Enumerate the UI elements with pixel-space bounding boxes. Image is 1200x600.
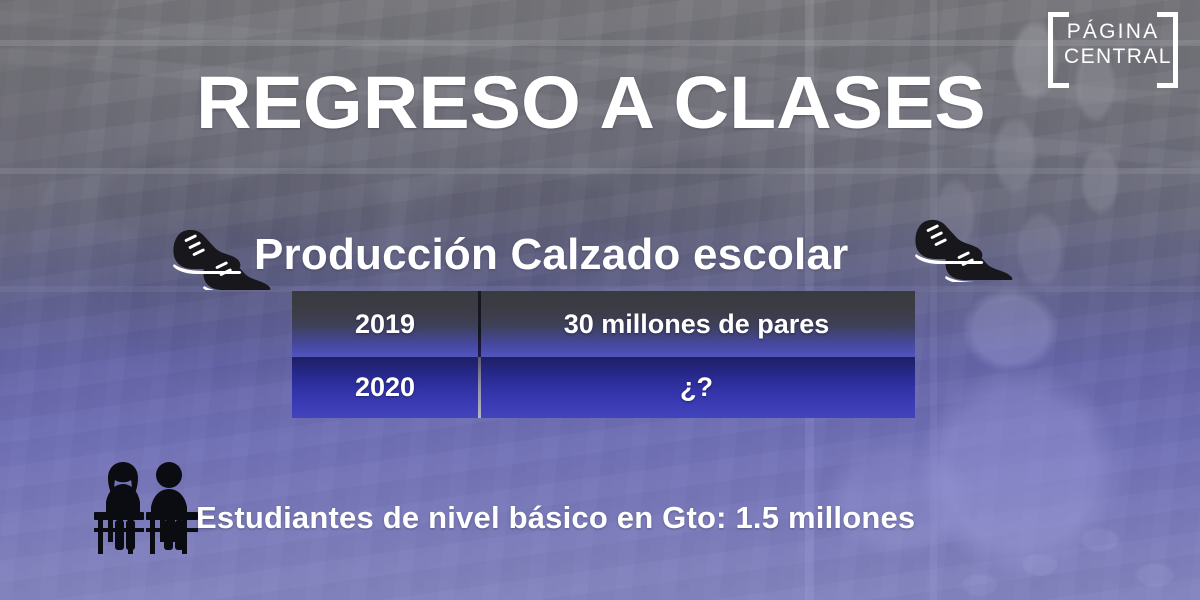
- logo-wordmark: PÁGINA CENTRAL: [1064, 19, 1162, 69]
- table-cell-value: 30 millones de pares: [478, 291, 915, 357]
- infographic-canvas: PÁGINA CENTRAL REGRESO A CLASES Producci…: [0, 0, 1200, 600]
- logo-line-1: PÁGINA: [1064, 19, 1162, 44]
- table-row: 2019 30 millones de pares: [292, 291, 915, 357]
- students-at-desks-icon: [84, 458, 208, 562]
- table-cell-year: 2020: [292, 357, 478, 418]
- production-table: 2019 30 millones de pares 2020 ¿?: [292, 291, 915, 418]
- logo-line-2: CENTRAL: [1064, 44, 1162, 69]
- section-subtitle: Producción Calzado escolar: [254, 230, 848, 280]
- subtitle-row: Producción Calzado escolar: [168, 222, 1038, 292]
- page-title: REGRESO A CLASES: [196, 66, 986, 140]
- table-row: 2020 ¿?: [292, 357, 915, 418]
- pagina-central-logo: PÁGINA CENTRAL: [1048, 12, 1178, 78]
- sneakers-pair-right-icon: [910, 216, 1020, 282]
- footer-statistic: Estudiantes de nivel básico en Gto: 1.5 …: [196, 500, 915, 536]
- column-divider: [478, 291, 481, 357]
- column-divider: [478, 357, 481, 418]
- table-cell-value: ¿?: [478, 357, 915, 418]
- table-cell-year: 2019: [292, 291, 478, 357]
